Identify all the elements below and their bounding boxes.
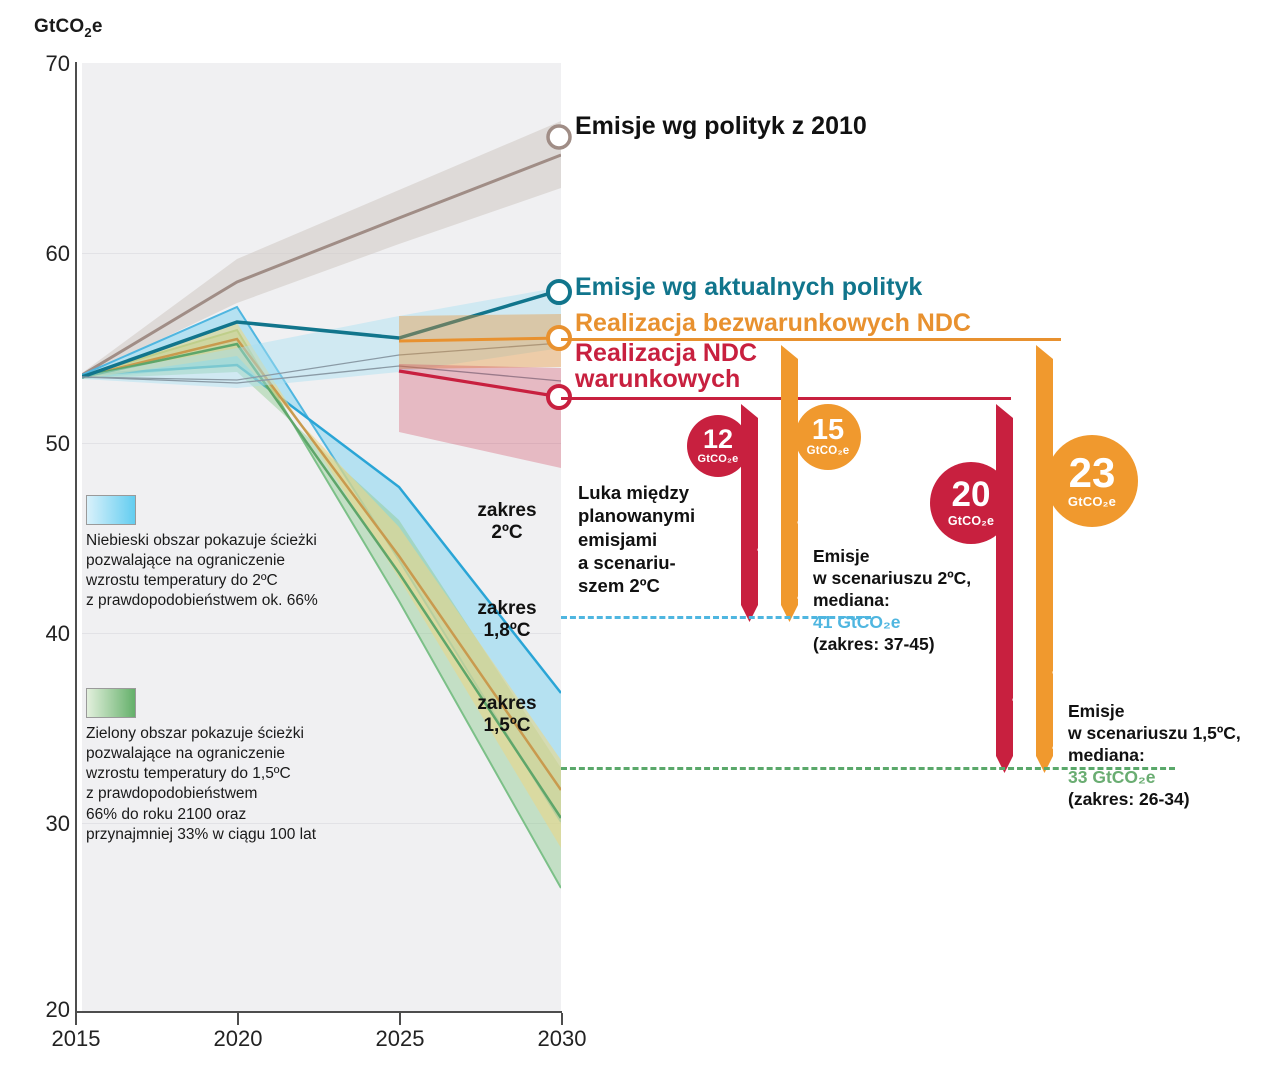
bubble-23: 23 GtCO₂e xyxy=(1046,435,1138,527)
note-15c-l2: w scenariuszu 1,5ºC, xyxy=(1068,722,1280,744)
note-2c-range: (zakres: 37-45) xyxy=(813,633,1043,655)
arrow-label-unconditional-15c: bezwarunkowe NDC xyxy=(1051,594,1069,750)
chart-root: GtCO2e 70 60 50 40 30 20 2015 2020 2025 … xyxy=(0,0,1280,1087)
bubble-12: 12 GtCO₂e xyxy=(687,415,749,477)
note-2c-l3: mediana: xyxy=(813,589,1043,611)
bubble-12-value: 12 xyxy=(703,427,733,453)
bubble-15-unit: GtCO₂e xyxy=(807,445,850,457)
bubble-23-value: 23 xyxy=(1069,453,1116,493)
bubble-15-value: 15 xyxy=(812,417,844,445)
note-2c-l1: Emisje xyxy=(813,545,1043,567)
note-15c-l1: Emisje xyxy=(1068,700,1280,722)
note-15c-range: (zakres: 26-34) xyxy=(1068,788,1280,810)
gap-arrows-svg xyxy=(0,0,1280,1087)
bubble-20-value: 20 xyxy=(952,478,991,511)
arrow-label-conditional-2c: warunkowe NDC xyxy=(756,471,774,600)
bubble-15: 15 GtCO₂e xyxy=(795,404,861,470)
note-15c-l3: mediana: xyxy=(1068,744,1280,766)
bubble-23-unit: GtCO₂e xyxy=(1068,494,1116,509)
bubble-20-unit: GtCO₂e xyxy=(948,514,994,528)
scenario-note-2c: Emisje w scenariuszu 2ºC, mediana: 41 Gt… xyxy=(813,545,1043,655)
note-2c-l2: w scenariuszu 2ºC, xyxy=(813,567,1043,589)
bubble-20: 20 GtCO₂e xyxy=(930,462,1012,544)
arrow-label-unconditional-2c: bezwarunkowe NDC xyxy=(796,444,814,600)
note-15c-median: 33 GtCO₂e xyxy=(1068,766,1280,788)
bubble-12-unit: GtCO₂e xyxy=(698,453,739,465)
note-2c-median: 41 GtCO₂e xyxy=(813,611,1043,633)
scenario-note-15c: Emisje w scenariuszu 1,5ºC, mediana: 33 … xyxy=(1068,700,1280,810)
